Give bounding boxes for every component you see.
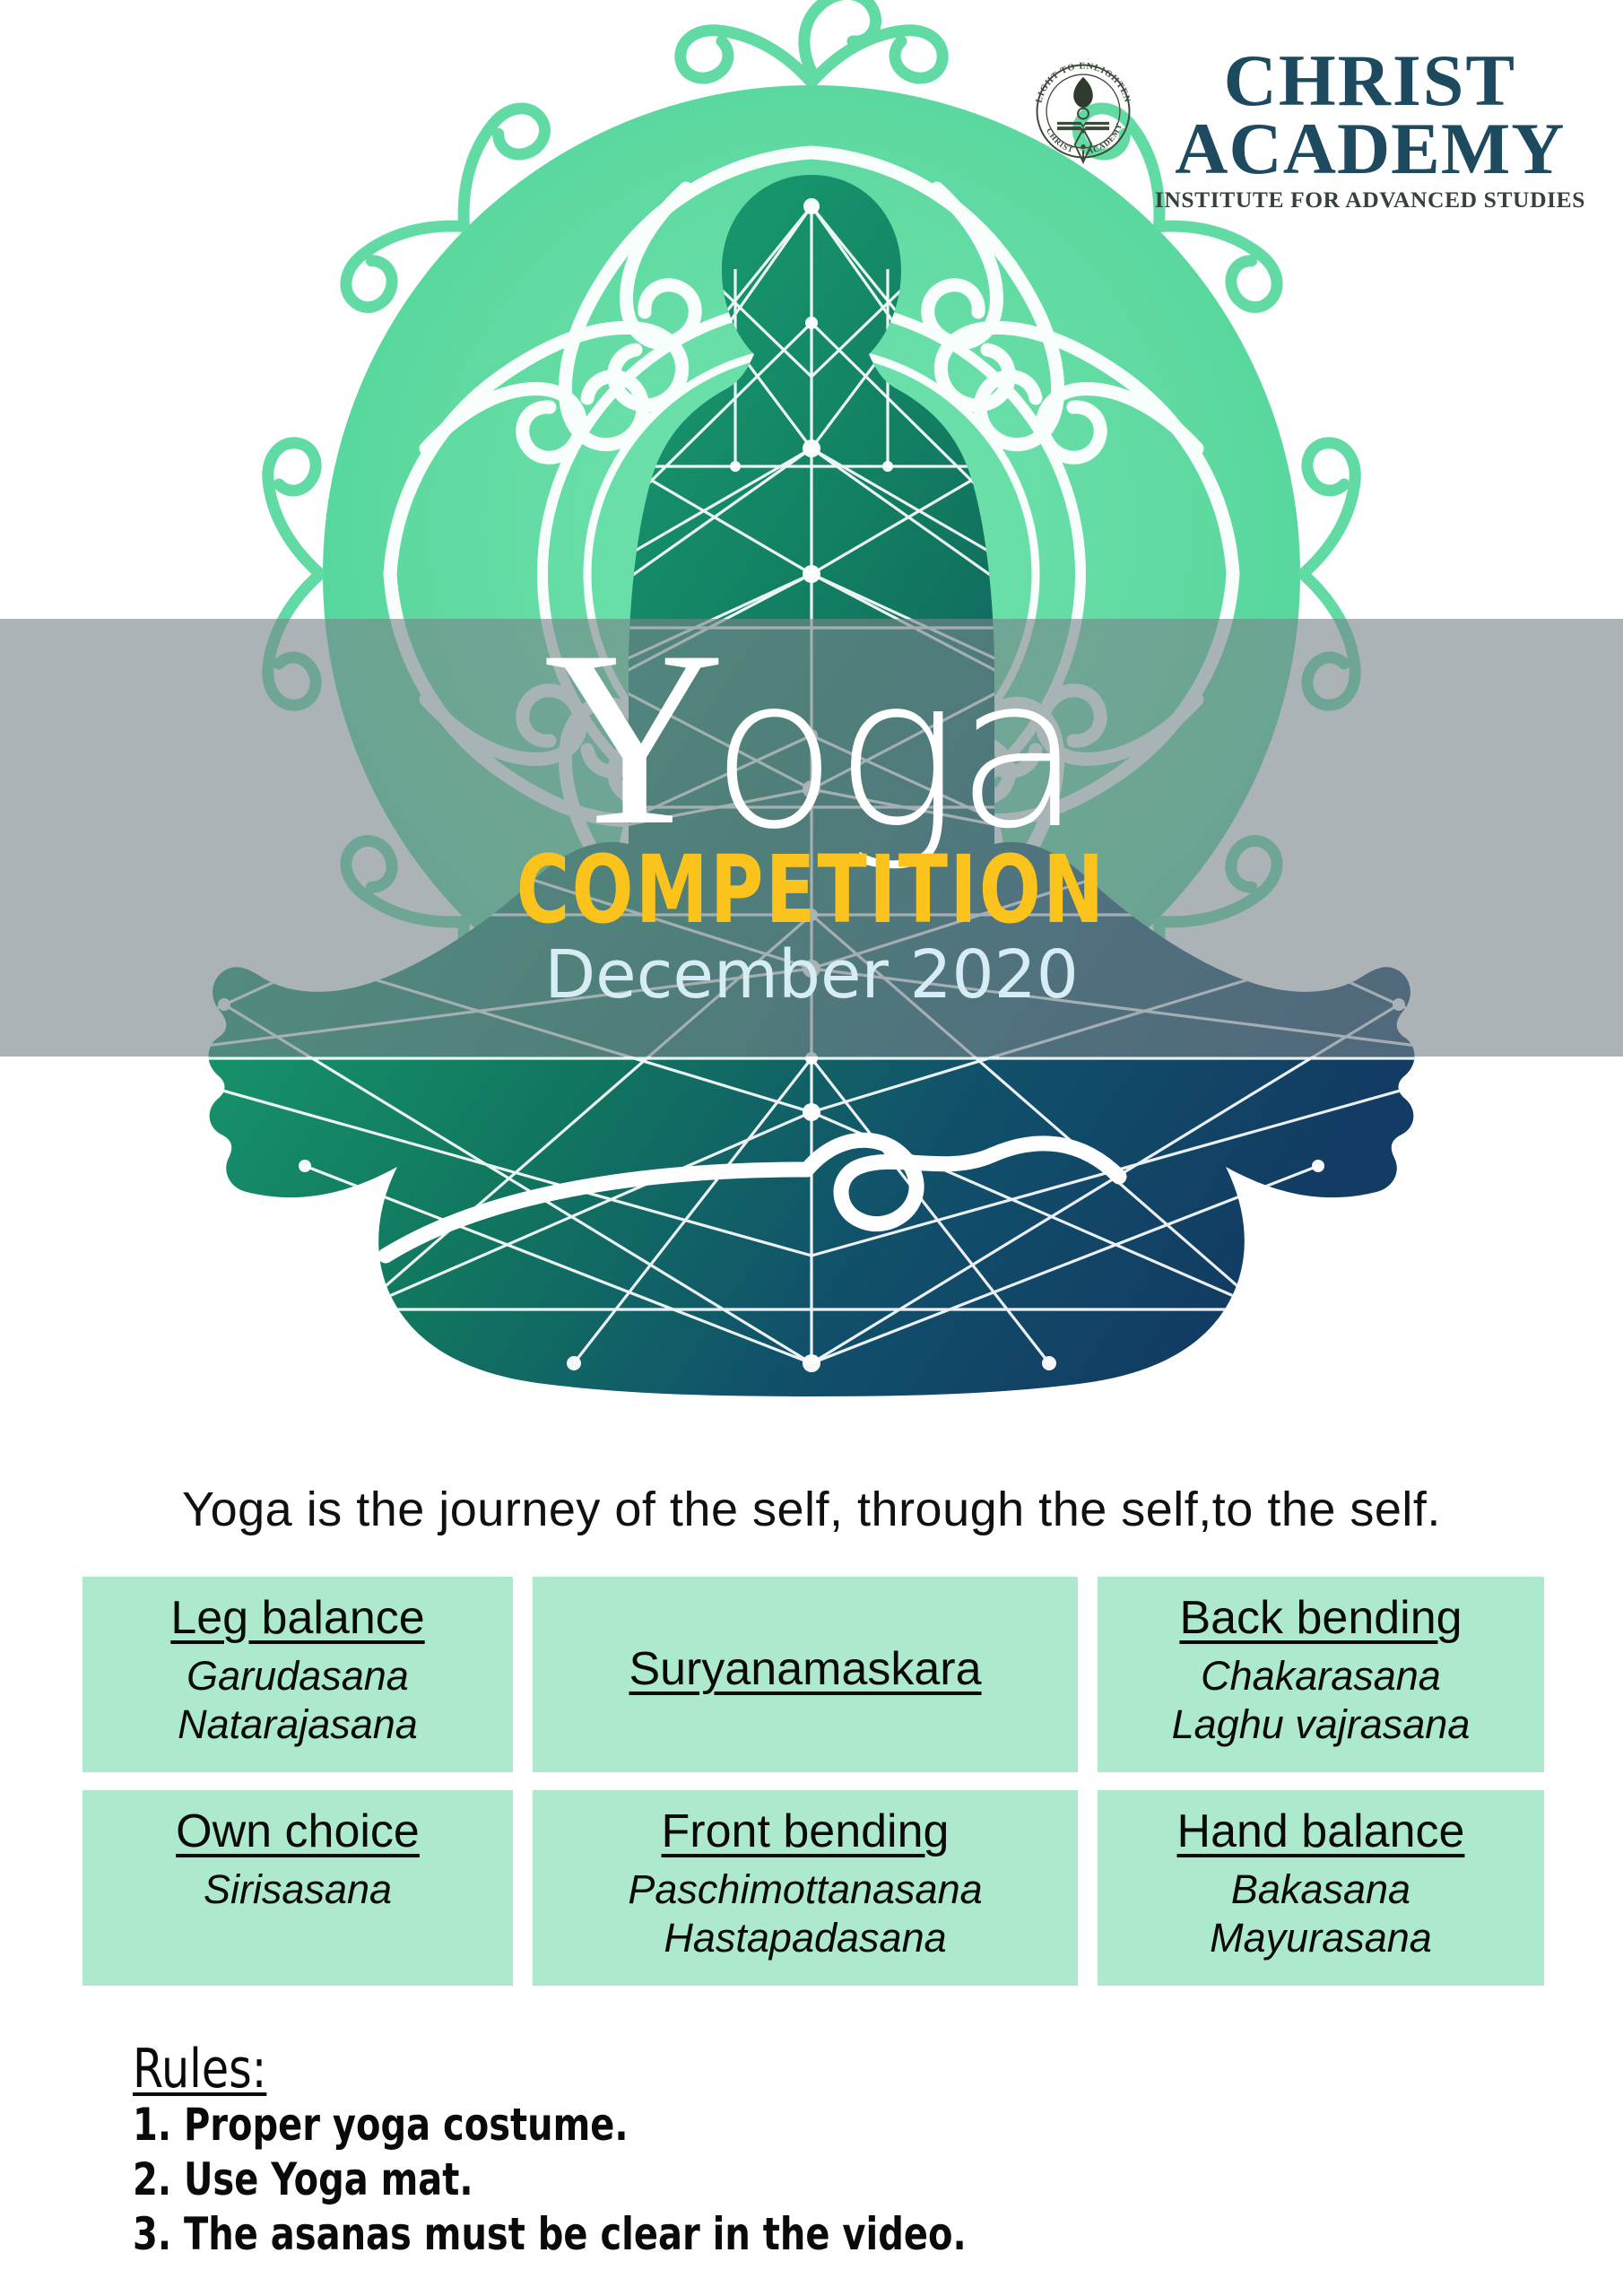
logo-title-line1: CHRIST [1224,47,1516,114]
rule-item: 1. Proper yoga costume. [133,2098,1065,2152]
asana-item: Bakasana [1231,1866,1410,1913]
asana-item: Paschimottanasana [628,1866,982,1913]
category-card-leg-balance[interactable]: Leg balance Garudasana Natarajasana [82,1577,513,1772]
category-card-front-bending[interactable]: Front bending Paschimottanasana Hastapad… [533,1790,1078,1986]
title-initial: Y [543,635,719,841]
page-title: Y oga [543,635,1080,859]
poster-title-block: Y oga COMPETITION December 2020 [0,619,1623,1067]
academy-seal-icon: LIGHT TO ENLIGHTEN CHRIST ACADEMY [1024,52,1142,170]
asana-item: Mayurasana [1210,1915,1432,1961]
category-asana-list: Bakasana Mayurasana [1210,1866,1432,1961]
title-subtitle: COMPETITION [516,843,1107,936]
category-title: Suryanamaskara [629,1644,981,1695]
asana-item: Hastapadasana [664,1915,946,1961]
logo-title-line2: ACADEMY [1175,114,1565,184]
category-asana-list: Garudasana Natarajasana [178,1653,418,1748]
category-title: Back bending [1179,1593,1462,1644]
category-card-hand-balance[interactable]: Hand balance Bakasana Mayurasana [1098,1790,1544,1986]
category-asana-list: Chakarasana Laghu vajrasana [1172,1653,1471,1748]
asana-item: Natarajasana [178,1701,418,1748]
category-title: Own choice [176,1806,420,1857]
rule-item: 2. Use Yoga mat. [133,2152,1065,2207]
event-date: December 2020 [544,942,1079,1008]
christ-academy-logo: LIGHT TO ENLIGHTEN CHRIST ACADEMY CHRIST… [1024,47,1585,212]
asana-item: Laghu vajrasana [1172,1701,1471,1748]
asana-item: Sirisasana [204,1866,392,1913]
rules-section: Rules: 1. Proper yoga costume. 2. Use Yo… [133,2041,1298,2262]
rules-heading: Rules: [133,2041,266,2098]
category-card-own-choice[interactable]: Own choice Sirisasana [82,1790,513,1986]
asana-item: Chakarasana [1201,1653,1441,1700]
category-title: Front bending [662,1806,950,1857]
logo-tagline: INSTITUTE FOR ADVANCED STUDIES [1155,188,1585,212]
category-asana-list: Sirisasana [204,1866,392,1913]
category-card-suryanamaskara[interactable]: Suryanamaskara [533,1577,1078,1772]
title-rest: oga [710,660,1079,848]
yoga-quote: Yoga is the journey of the self, through… [0,1482,1623,1537]
asana-item: Garudasana [187,1653,409,1700]
asana-category-grid: Leg balance Garudasana Natarajasana Sury… [82,1577,1541,1986]
rule-item: 3. The asanas must be clear in the video… [133,2207,1065,2262]
category-asana-list: Paschimottanasana Hastapadasana [628,1866,982,1961]
category-title: Leg balance [170,1593,424,1644]
category-card-back-bending[interactable]: Back bending Chakarasana Laghu vajrasana [1098,1577,1544,1772]
category-title: Hand balance [1177,1806,1465,1857]
